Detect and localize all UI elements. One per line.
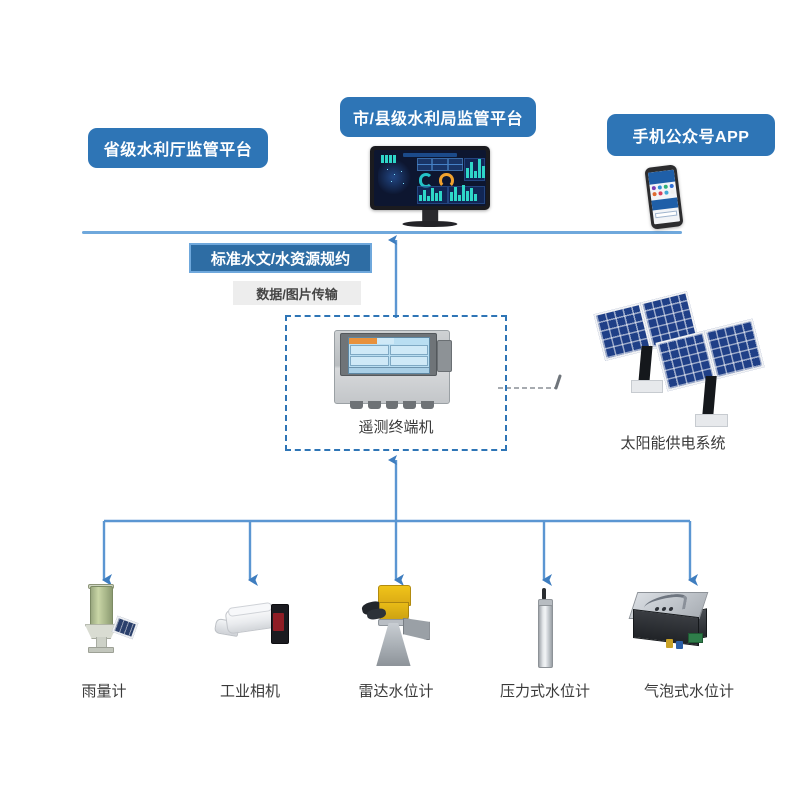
platform-city-county-label: 市/县级水利局监管平台 xyxy=(353,105,523,129)
rtu-lcd-screen xyxy=(348,337,430,374)
sensor-label-bubbler-level: 气泡式水位计 xyxy=(644,683,734,700)
phone-screen xyxy=(648,170,680,225)
sensor-caption-industrial-camera: 工业相机 xyxy=(190,680,310,701)
platform-mobile-app-label: 手机公众号APP xyxy=(633,123,750,147)
sensor-label-industrial-camera: 工业相机 xyxy=(220,683,280,700)
dashboard-header xyxy=(403,153,457,157)
protocol-badge: 标准水文/水资源规约 xyxy=(189,243,372,273)
rain-gauge-solar-panel xyxy=(112,616,139,640)
pressure-probe-icon xyxy=(524,588,566,666)
rtu-cable-glands xyxy=(350,401,434,409)
data-transfer-badge: 数据/图片传输 xyxy=(233,281,361,305)
solar-caption: 太阳能供电系统 xyxy=(578,432,768,453)
monitor-bezel xyxy=(370,146,490,210)
phone-footer-banner xyxy=(651,198,678,210)
rtu-lcd-cells xyxy=(349,344,429,367)
solar-panel-right xyxy=(704,319,765,380)
bubbler-icon xyxy=(626,588,712,650)
solar-pole-1 xyxy=(638,346,652,382)
monitor-stand-base xyxy=(402,221,457,227)
platform-mobile-app[interactable]: 手机公众号APP xyxy=(607,114,775,156)
camera-icon xyxy=(214,598,286,648)
diagram-canvas: 省级水利厅监管平台 市/县级水利局监管平台 手机公众号APP xyxy=(0,0,800,800)
platform-province[interactable]: 省级水利厅监管平台 xyxy=(88,128,268,168)
dashboard-kpi-bars xyxy=(381,158,396,163)
platform-city-county[interactable]: 市/县级水利局监管平台 xyxy=(340,97,536,137)
sensor-caption-radar-level: 雷达水位计 xyxy=(335,680,457,701)
platform-province-label: 省级水利厅监管平台 xyxy=(104,136,253,160)
sensor-caption-bubbler-level: 气泡式水位计 xyxy=(626,680,752,701)
phone-app-icon-grid xyxy=(649,182,677,199)
sensor-caption-pressure-level: 压力式水位计 xyxy=(482,680,608,701)
desktop-monitor xyxy=(370,146,490,232)
rtu-lid xyxy=(340,333,437,376)
smartphone xyxy=(644,164,683,229)
dashboard-map xyxy=(378,160,412,194)
monitor-screen xyxy=(374,150,486,206)
solar-base-1 xyxy=(631,380,663,393)
remote-telemetry-unit-icon xyxy=(334,330,450,404)
radar-level-icon xyxy=(356,580,434,666)
rtu-caption: 遥测终端机 xyxy=(285,416,507,437)
sensor-caption-rain-gauge: 雨量计 xyxy=(44,680,164,701)
protocol-label: 标准水文/水资源规约 xyxy=(211,248,350,269)
sensor-label-pressure-level: 压力式水位计 xyxy=(500,683,590,700)
antenna-whip xyxy=(556,376,560,388)
sensor-label-radar-level: 雷达水位计 xyxy=(358,683,433,700)
phone-body xyxy=(644,164,683,229)
rtu-connector-block xyxy=(437,340,452,372)
phone-input-row xyxy=(655,210,678,218)
rtu-label: 遥测终端机 xyxy=(358,419,433,436)
data-transfer-label: 数据/图片传输 xyxy=(256,284,338,303)
solar-label: 太阳能供电系统 xyxy=(620,435,725,452)
rain-gauge-icon xyxy=(76,586,138,652)
solar-base-2 xyxy=(695,414,728,427)
solar-pole-2 xyxy=(702,376,716,416)
sensor-label-rain-gauge: 雨量计 xyxy=(81,683,126,700)
rtu-lcd-statusbar xyxy=(349,367,429,373)
solar-array-2 xyxy=(660,330,764,430)
